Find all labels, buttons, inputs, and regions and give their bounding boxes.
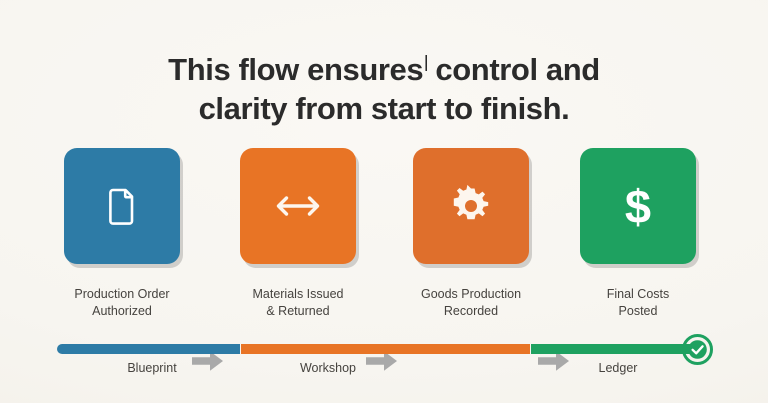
flow-step-final-costs[interactable]: $ (580, 148, 696, 264)
infographic-canvas: This flow ensuresı control and clarity f… (0, 0, 768, 403)
page-title-line-1-after: control and (427, 52, 600, 87)
step-2-caption-line-2: & Returned (210, 303, 386, 320)
progress-label-blueprint: Blueprint (62, 360, 242, 377)
step-3-caption-line-2: Recorded (383, 303, 559, 320)
flow-step-materials-issued[interactable] (240, 148, 356, 264)
step-3-caption: Goods Production Recorded (383, 286, 559, 320)
progress-label-ledger: Ledger (528, 360, 708, 377)
page-title-line-1-before: This flow ensures (168, 52, 423, 87)
progress-label-workshop: Workshop (238, 360, 418, 377)
step-4-caption: Final Costs Posted (550, 286, 726, 320)
dollar-icon: $ (625, 183, 651, 230)
gear-icon (448, 183, 494, 229)
flow-step-goods-production[interactable] (413, 148, 529, 264)
document-icon (99, 183, 145, 229)
page-title-line-2: clarity from start to finish. (0, 89, 768, 128)
progress-segment-blueprint[interactable] (57, 344, 240, 354)
step-2-caption: Materials Issued & Returned (210, 286, 386, 320)
flow-step-production-order[interactable] (64, 148, 180, 264)
step-4-caption-line-1: Final Costs (550, 286, 726, 303)
step-3-tile[interactable] (413, 148, 529, 264)
step-1-tile[interactable] (64, 148, 180, 264)
step-1-caption-line-2: Authorized (34, 303, 210, 320)
progress-segment-ledger[interactable] (531, 344, 705, 354)
page-title-line-1: This flow ensuresı control and (0, 41, 768, 89)
phase-progress-bar[interactable] (57, 344, 705, 354)
step-4-tile[interactable]: $ (580, 148, 696, 264)
step-1-caption-line-1: Production Order (34, 286, 210, 303)
step-1-caption: Production Order Authorized (34, 286, 210, 320)
flow-steps: $ (0, 148, 768, 278)
progress-segment-workshop[interactable] (241, 344, 530, 354)
left-right-arrow-icon (273, 191, 323, 221)
step-4-caption-line-2: Posted (550, 303, 726, 320)
step-3-caption-line-1: Goods Production (383, 286, 559, 303)
step-2-caption-line-1: Materials Issued (210, 286, 386, 303)
page-title: This flow ensuresı control and clarity f… (0, 41, 768, 128)
step-2-tile[interactable] (240, 148, 356, 264)
